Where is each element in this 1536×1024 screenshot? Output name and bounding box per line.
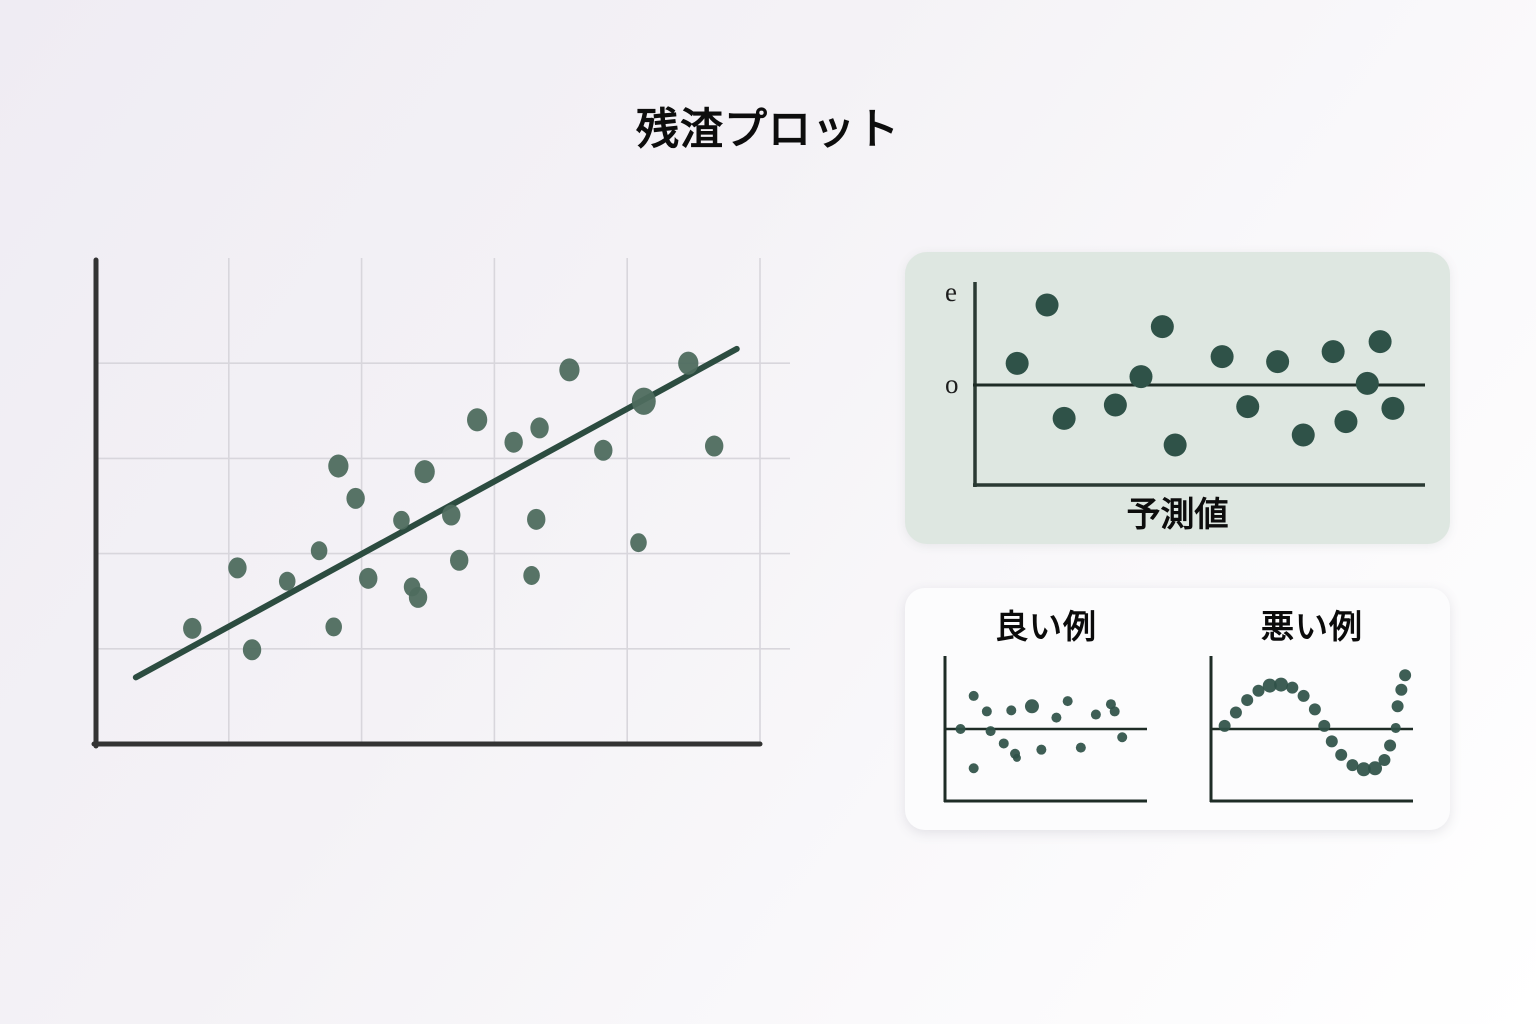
residual-scatter-points <box>1006 294 1405 457</box>
bad-example-panel: 悪い例 <box>1181 588 1443 830</box>
good-example-title: 良い例 <box>915 600 1177 648</box>
residual-x-axis-label: 予測値 <box>905 487 1450 536</box>
residual-plot-card: e o 予測値 <box>905 252 1450 544</box>
examples-card: 良い例 悪い例 <box>905 588 1450 830</box>
main-grid <box>96 258 790 744</box>
bad-example-title: 悪い例 <box>1181 600 1443 648</box>
main-scatter-svg <box>60 250 790 770</box>
main-scatter-points <box>183 352 723 661</box>
bad-example-points <box>1219 669 1411 776</box>
good-example-svg <box>929 650 1169 820</box>
good-example-panel: 良い例 <box>915 588 1177 830</box>
main-scatter-plot <box>60 250 790 770</box>
bad-example-svg <box>1195 650 1435 820</box>
page-title: 残渣プロット <box>0 95 1536 157</box>
good-example-points <box>956 691 1128 773</box>
